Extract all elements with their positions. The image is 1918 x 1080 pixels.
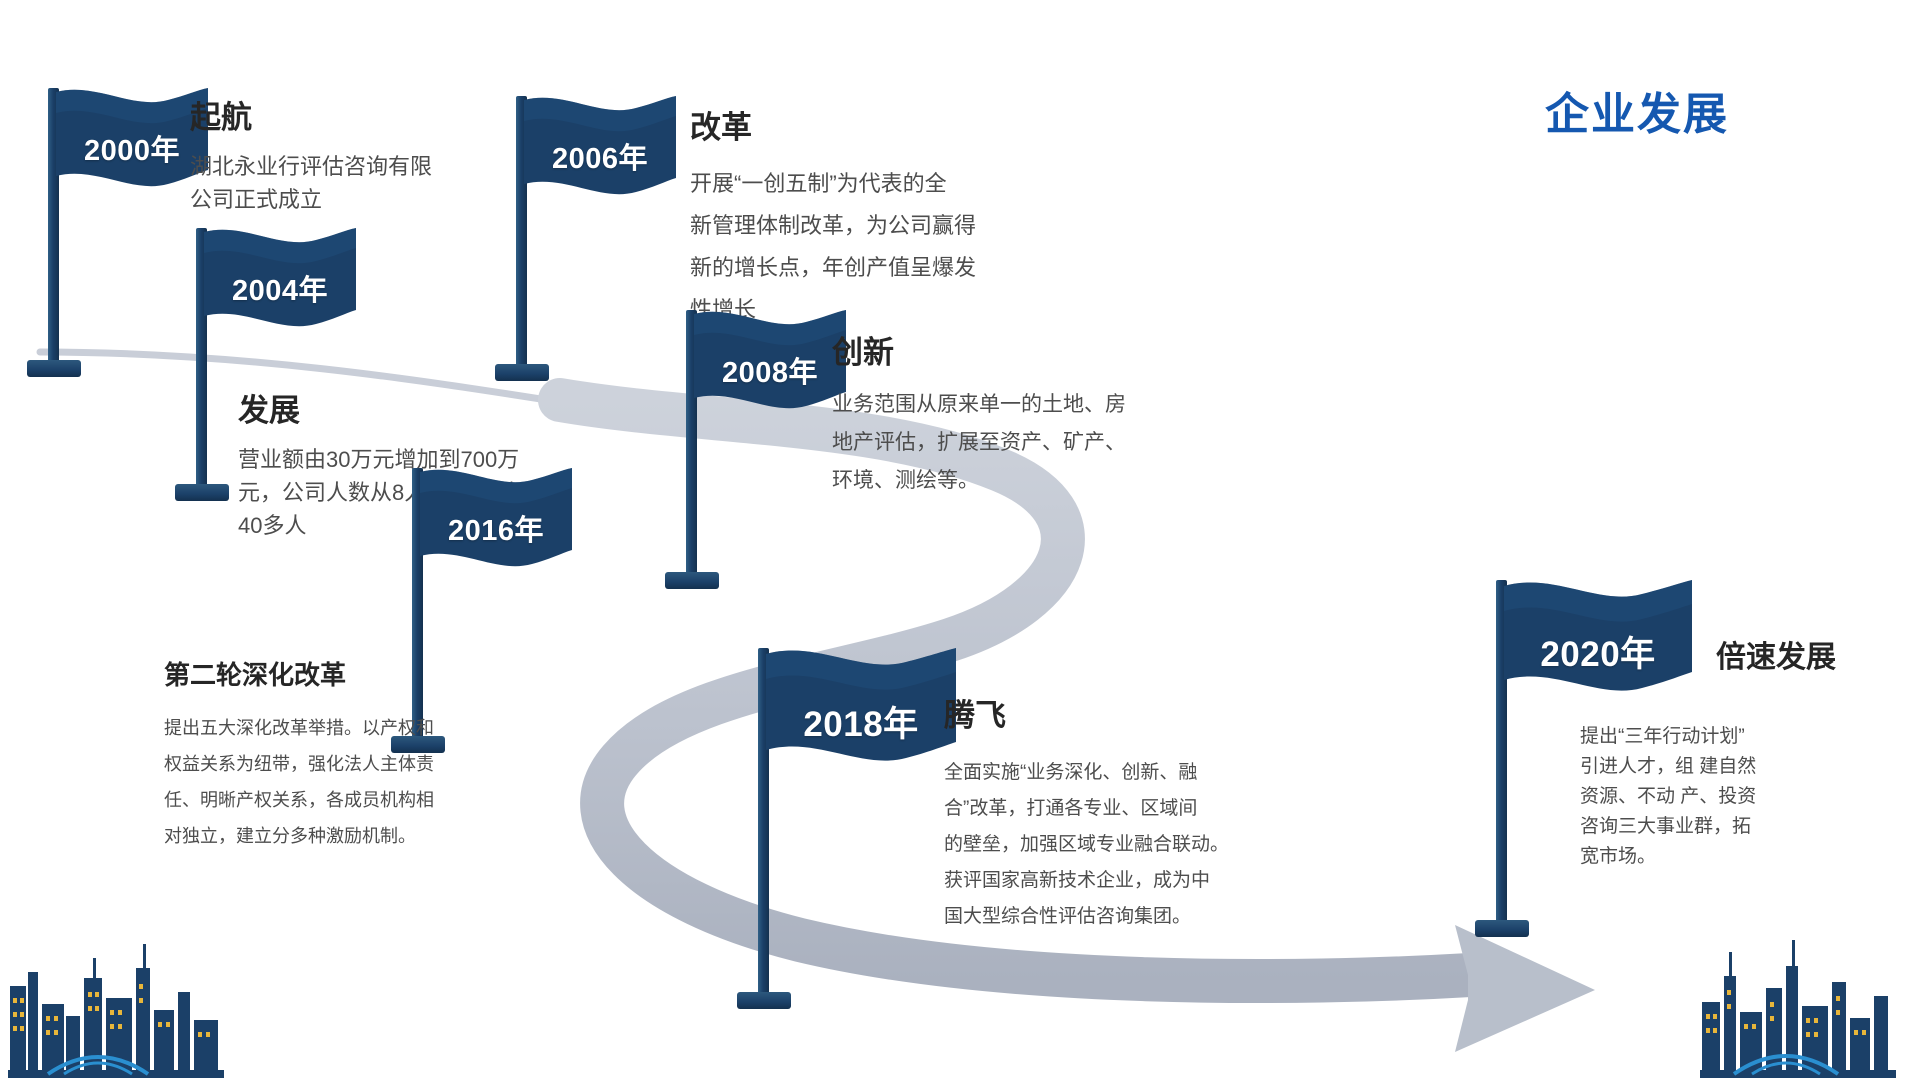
infographic-canvas: 企业发展 2000年 起航 湖北永业行评估咨询有限 公司正式成立 2004年 发…: [0, 0, 1918, 1080]
body-line: 新的增长点，年创产值呈爆发: [690, 247, 1030, 289]
milestone-body-2020: 提出“三年行动计划” 引进人才，组 建自然 资源、不动 产、投资 咨询三大事业群…: [1580, 722, 1840, 872]
milestone-text-2008: 创新 业务范围从原来单一的土地、房 地产评估，扩展至资产、矿产、 环境、测绘等。: [832, 327, 1182, 500]
body-line: 任、明晰产权关系，各成员机构相: [164, 782, 494, 818]
milestone-title: 倍速发展: [1716, 632, 1918, 676]
milestone-text-2018: 腾飞 全面实施“业务深化、创新、融 合”改革，打通各专业、区域间 的壁垒，加强区…: [944, 690, 1254, 935]
body-line: 提出五大深化改革举措。以产权和: [164, 710, 494, 746]
body-line: 宽市场。: [1580, 842, 1840, 872]
body-line: 合”改革，打通各专业、区域间: [944, 791, 1254, 827]
flag-year-label: 2006年: [524, 135, 676, 177]
milestone-text-2016: 第二轮深化改革 提出五大深化改革举措。以产权和 权益关系为纽带，强化法人主体责 …: [164, 655, 494, 854]
flag-base: [737, 992, 791, 1009]
flag-base: [665, 572, 719, 589]
milestone-text-2006: 改革 开展“一创五制”为代表的全 新管理体制改革，为公司赢得 新的增长点，年创产…: [690, 102, 1030, 331]
milestone-body: 开展“一创五制”为代表的全 新管理体制改革，为公司赢得 新的增长点，年创产值呈爆…: [690, 163, 1030, 331]
milestone-body: 全面实施“业务深化、创新、融 合”改革，打通各专业、区域间 的壁垒，加强区域专业…: [944, 755, 1254, 935]
body-line: 业务范围从原来单一的土地、房: [832, 386, 1182, 424]
body-line: 的壁垒，加强区域专业融合联动。: [944, 827, 1254, 863]
body-line: 环境、测绘等。: [832, 462, 1182, 500]
milestone-body: 提出“三年行动计划” 引进人才，组 建自然 资源、不动 产、投资 咨询三大事业群…: [1580, 722, 1840, 872]
milestone-title: 腾飞: [944, 690, 1254, 735]
body-line: 提出“三年行动计划”: [1580, 722, 1840, 752]
flag-year-label: 2004年: [204, 267, 356, 309]
flag-base: [1475, 920, 1529, 937]
body-line: 公司正式成立: [190, 183, 490, 216]
flag-year-label: 2018年: [766, 696, 956, 747]
milestone-body: 业务范围从原来单一的土地、房 地产评估，扩展至资产、矿产、 环境、测绘等。: [832, 386, 1182, 500]
body-line: 对独立，建立分多种激励机制。: [164, 818, 494, 854]
milestone-title: 第二轮深化改革: [164, 655, 494, 692]
flag-year-label: 2008年: [694, 349, 846, 391]
body-line: 湖北永业行评估咨询有限: [190, 150, 490, 183]
page-title: 企业发展: [1545, 78, 1729, 142]
body-line: 权益关系为纽带，强化法人主体责: [164, 746, 494, 782]
flag-base: [27, 360, 81, 377]
flag-year-label: 2016年: [420, 507, 572, 549]
milestone-title: 起航: [190, 92, 490, 137]
body-line: 新管理体制改革，为公司赢得: [690, 205, 1030, 247]
milestone-title: 发展: [238, 385, 598, 430]
body-line: 开展“一创五制”为代表的全: [690, 163, 1030, 205]
milestone-title: 创新: [832, 327, 1182, 372]
milestone-text-2000: 起航 湖北永业行评估咨询有限 公司正式成立: [190, 92, 490, 216]
body-line: 国大型综合性评估咨询集团。: [944, 899, 1254, 935]
flag-base: [495, 364, 549, 381]
flag-base: [175, 484, 229, 501]
body-line: 全面实施“业务深化、创新、融: [944, 755, 1254, 791]
milestone-body: 湖北永业行评估咨询有限 公司正式成立: [190, 150, 490, 216]
body-line: 资源、不动 产、投资: [1580, 782, 1840, 812]
milestone-title: 改革: [690, 102, 1030, 147]
flag-year-label: 2000年: [56, 127, 208, 169]
body-line: 引进人才，组 建自然: [1580, 752, 1840, 782]
milestone-body: 提出五大深化改革举措。以产权和 权益关系为纽带，强化法人主体责 任、明晰产权关系…: [164, 710, 494, 854]
body-line: 获评国家高新技术企业，成为中: [944, 863, 1254, 899]
flag-year-label: 2020年: [1504, 626, 1692, 677]
body-line: 咨询三大事业群，拓: [1580, 812, 1840, 842]
body-line: 地产评估，扩展至资产、矿产、: [832, 424, 1182, 462]
